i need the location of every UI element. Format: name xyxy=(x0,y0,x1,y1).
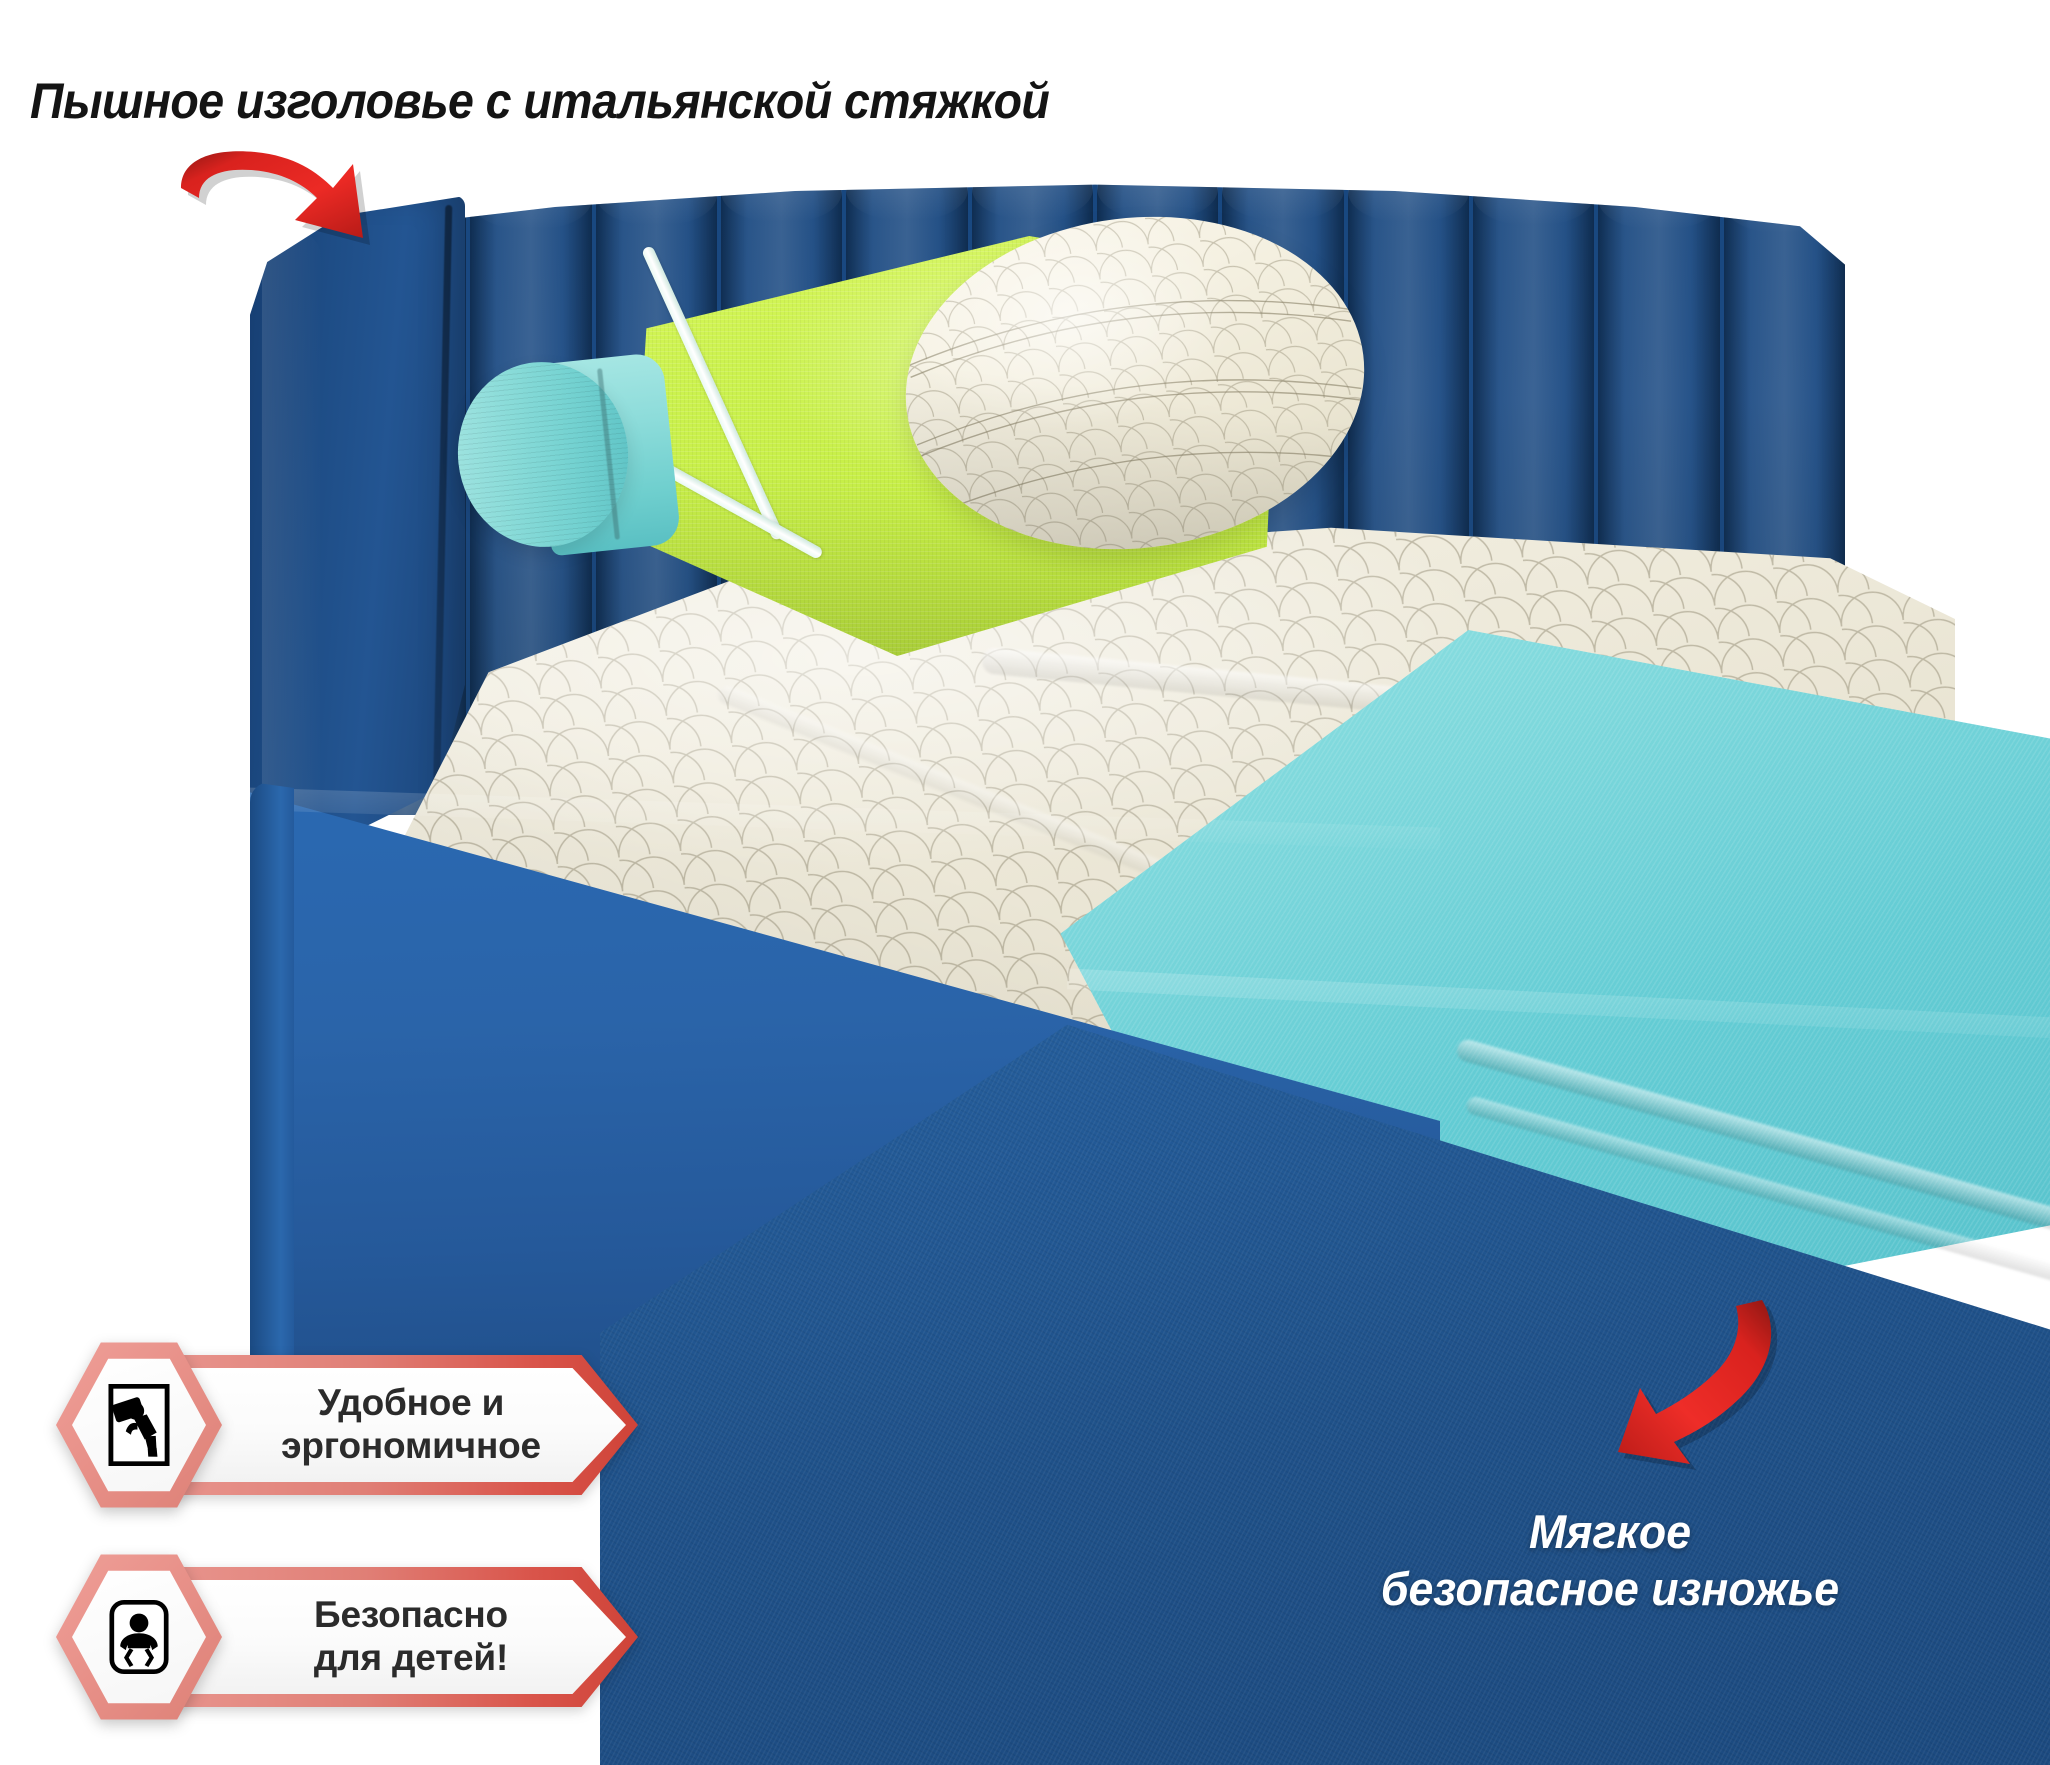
badge-label-line1: Безопасно xyxy=(314,1594,508,1637)
footboard-caption-line2: безопасное изножье xyxy=(1259,1560,1962,1617)
badge-label-line1: Удобное и xyxy=(318,1382,504,1425)
badge-banner: Удобное и эргономичное xyxy=(168,1355,638,1495)
badge-banner: Безопасно для детей! xyxy=(168,1567,638,1707)
feature-badge-ergonomic: Удобное и эргономичное xyxy=(56,1340,638,1510)
headboard-pointer-arrow xyxy=(175,140,395,260)
footboard-caption-line1: Мягкое xyxy=(1259,1503,1962,1560)
footboard-pointer-arrow xyxy=(1610,1290,1790,1470)
headboard-wing-highlight xyxy=(262,230,322,830)
cushion-shading xyxy=(887,191,1384,575)
badge-label-line2: для детей! xyxy=(314,1637,508,1680)
footboard-caption: Мягкое безопасное изножье xyxy=(1259,1503,1962,1618)
badge-banner-text: Удобное и эргономичное xyxy=(236,1355,586,1495)
round-cream-cushion xyxy=(887,191,1384,575)
badge-label-line2: эргономичное xyxy=(281,1425,541,1468)
badge-hexagon-frame xyxy=(56,1551,222,1723)
side-rail-end-cap xyxy=(250,782,294,1382)
feature-badge-child-safe: Безопасно для детей! xyxy=(56,1552,638,1722)
product-marketing-image: Пышное изголовье с итальянской стяжкой xyxy=(0,0,2050,1765)
baby-icon xyxy=(106,1594,172,1680)
badge-hexagon-frame xyxy=(56,1339,222,1511)
badge-banner-text: Безопасно для детей! xyxy=(236,1567,586,1707)
person-sleeping-icon xyxy=(106,1382,172,1468)
